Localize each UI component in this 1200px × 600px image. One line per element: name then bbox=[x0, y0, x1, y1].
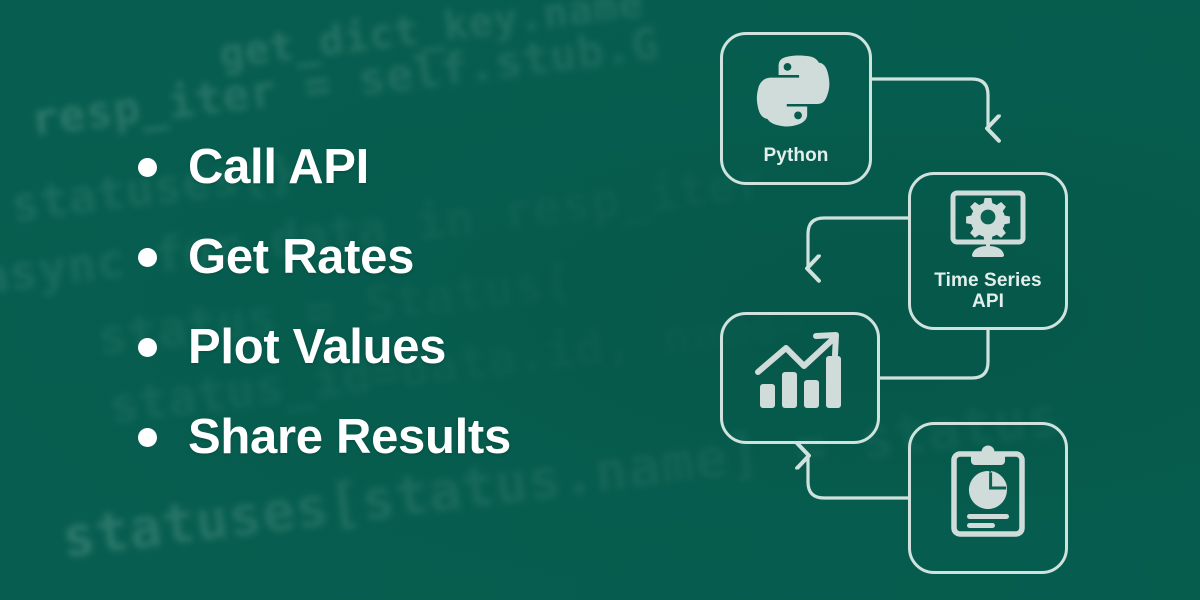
connector-report-to-chart bbox=[808, 456, 908, 498]
diagram-node-label: Python bbox=[764, 145, 829, 166]
bullet-dot-icon bbox=[138, 158, 157, 177]
feature-bullet-list: Call API Get Rates Plot Values Share Res… bbox=[138, 122, 738, 482]
diagram-node-time-series-api[interactable]: Time SeriesAPI bbox=[908, 172, 1068, 330]
bar-chart-growth-icon bbox=[752, 330, 848, 419]
list-item-label: Share Results bbox=[188, 413, 511, 462]
list-item-label: Plot Values bbox=[188, 323, 446, 372]
list-item: Share Results bbox=[138, 392, 738, 482]
connector-python-to-api bbox=[872, 79, 988, 128]
bullet-dot-icon bbox=[138, 338, 157, 357]
list-item: Call API bbox=[138, 122, 738, 212]
banner-canvas: get_dict_key.name resp_iter = self.stub.… bbox=[0, 0, 1200, 600]
diagram-node-python[interactable]: Python bbox=[720, 32, 872, 185]
bullet-dot-icon bbox=[138, 428, 157, 447]
diagram-node-label: Time SeriesAPI bbox=[934, 270, 1041, 313]
clipboard-pie-report-icon bbox=[945, 444, 1031, 545]
diagram-node-report[interactable] bbox=[908, 422, 1068, 574]
connector-api-to-chart-right bbox=[880, 330, 988, 378]
list-item-label: Get Rates bbox=[188, 233, 414, 282]
bullet-dot-icon bbox=[138, 248, 157, 267]
python-logo-icon bbox=[755, 51, 837, 138]
list-item: Get Rates bbox=[138, 212, 738, 302]
connector-api-to-chart bbox=[808, 218, 908, 268]
list-item-label: Call API bbox=[188, 143, 369, 192]
list-item: Plot Values bbox=[138, 302, 738, 392]
monitor-gear-icon bbox=[949, 190, 1027, 263]
diagram-node-plot[interactable] bbox=[720, 312, 880, 444]
workflow-diagram: Python Time SeriesAPI bbox=[700, 0, 1200, 600]
